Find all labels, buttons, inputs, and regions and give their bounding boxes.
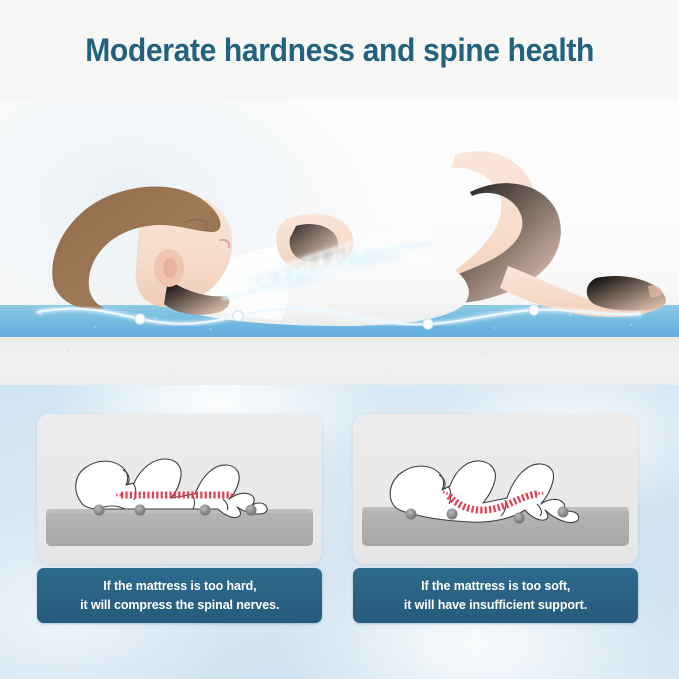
baby-outline-hard: [76, 459, 267, 518]
product-infographic-page: Moderate hardness and spine health: [0, 0, 679, 679]
caption-banner-too-hard[interactable]: If the mattress is too hard, it will com…: [37, 568, 322, 623]
hero-image: [0, 100, 679, 385]
baby-toes: [648, 285, 662, 297]
caption-line-1: If the mattress is too hard,: [103, 577, 256, 595]
card-too-soft[interactable]: [353, 414, 638, 564]
caption-line-1: If the mattress is too soft,: [421, 577, 570, 595]
caption-banner-too-soft[interactable]: If the mattress is too soft, it will hav…: [353, 568, 638, 623]
baby-ear-inner: [163, 258, 177, 278]
hard-mattress-slab: [46, 509, 313, 546]
baby-outline-soft: [390, 461, 579, 523]
baby-on-hard-mattress-diagram: [37, 414, 322, 564]
page-header: Moderate hardness and spine health: [0, 0, 679, 100]
page-title: Moderate hardness and spine health: [85, 32, 594, 69]
caption-line-2: it will compress the spinal nerves.: [80, 596, 279, 614]
card-too-hard[interactable]: [37, 414, 322, 564]
hero-illustration: [0, 100, 679, 385]
baby-on-soft-mattress-diagram: [353, 414, 638, 564]
caption-line-2: it will have insufficient support.: [404, 596, 587, 614]
slab-highlight: [46, 509, 313, 513]
comparison-section: If the mattress is too hard, it will com…: [0, 385, 679, 679]
